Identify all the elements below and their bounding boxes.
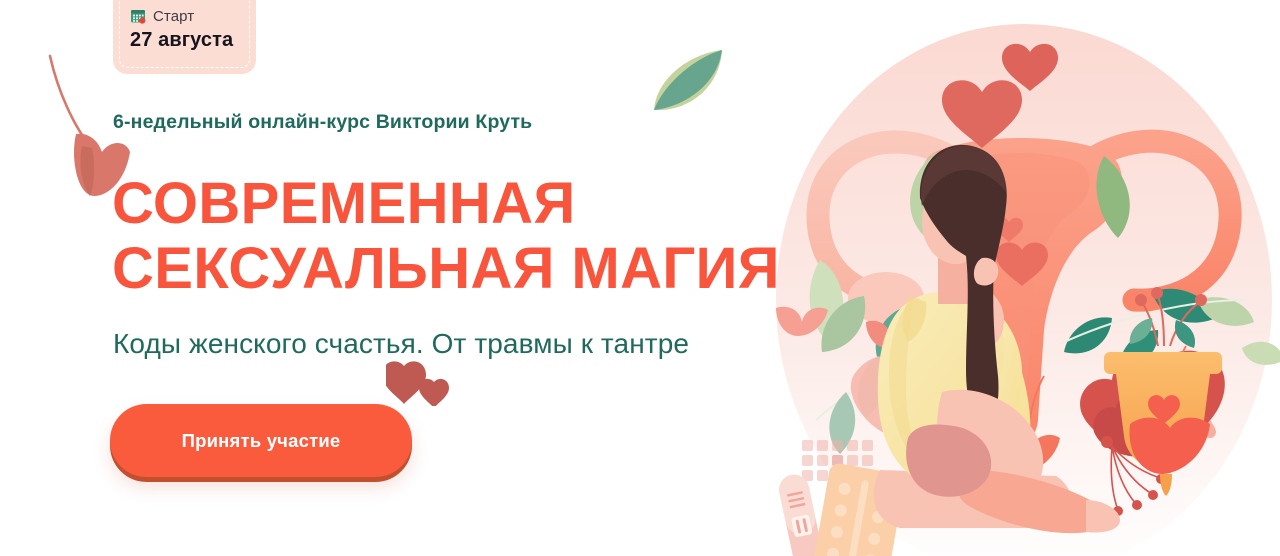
menstrual-cup-graphic <box>1104 287 1222 496</box>
hearts-decoration <box>942 44 1058 148</box>
birth-control-pills-graphic <box>803 462 906 556</box>
leaf-icon <box>648 44 732 118</box>
enroll-button[interactable]: Принять участие <box>110 404 412 477</box>
calendar-icon <box>130 8 146 24</box>
pregnancy-test-graphic <box>776 472 830 556</box>
course-eyebrow: 6-недельный онлайн-курс Виктории Круть <box>113 111 532 134</box>
uterus-anatomy-shape <box>818 138 1230 474</box>
backdrop-circle <box>776 24 1272 556</box>
womens-health-illustration <box>760 0 1280 556</box>
seated-woman-figure <box>874 145 1120 533</box>
badge-label: Старт <box>153 9 194 24</box>
headline-line-2: СЕКСУАЛЬНАЯ МАГИЯ <box>112 237 780 302</box>
two-hearts-icon <box>386 360 450 406</box>
calendar-grid-graphic <box>802 440 873 481</box>
leaf-cluster-right <box>1060 156 1280 366</box>
hero-tagline: Коды женского счастья. От травмы к тантр… <box>113 328 689 360</box>
page-title: СОВРЕМЕННАЯ СЕКСУАЛЬНАЯ МАГИЯ <box>112 172 780 302</box>
red-flower-right <box>1080 351 1225 516</box>
headline-line-1: СОВРЕМЕННАЯ <box>112 171 576 236</box>
hero-section: Старт 27 августа 6-недельный онлайн-курс… <box>0 0 1280 556</box>
badge-date: 27 августа <box>113 29 256 52</box>
badge-top-row: Старт <box>113 8 256 24</box>
droplets <box>1144 420 1216 438</box>
pink-flower-left <box>851 356 986 506</box>
start-date-badge: Старт 27 августа <box>113 0 256 74</box>
leaf-cluster-left <box>810 152 999 454</box>
small-tulips <box>776 307 1202 472</box>
